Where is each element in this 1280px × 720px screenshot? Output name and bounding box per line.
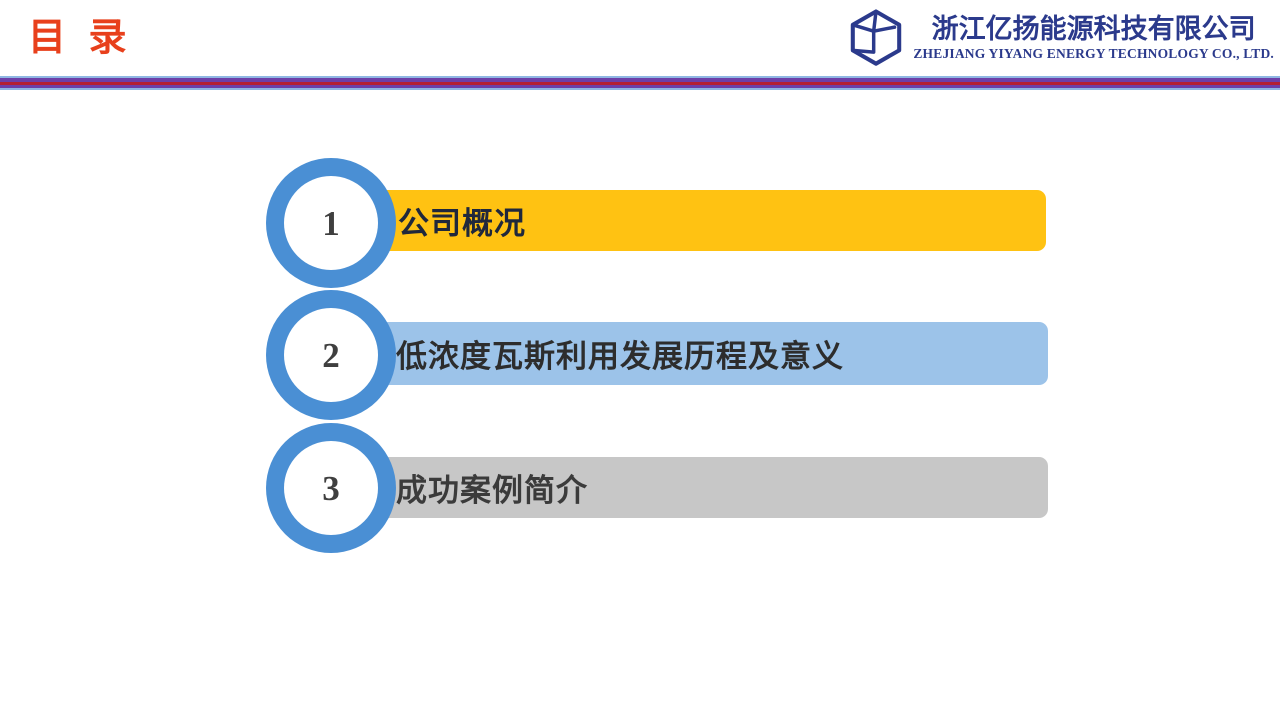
toc-number-disc-1: 1	[284, 176, 378, 270]
toc-item-2[interactable]: 低浓度瓦斯利用发展历程及意义 2	[0, 287, 1280, 423]
toc-bar-2[interactable]: 低浓度瓦斯利用发展历程及意义	[372, 322, 1048, 385]
toc-number-badge-2[interactable]: 2	[266, 290, 396, 420]
toc-number-1: 1	[322, 206, 340, 241]
toc-number-3: 3	[322, 471, 340, 506]
toc-number-disc-2: 2	[284, 308, 378, 402]
toc-number-badge-1[interactable]: 1	[266, 158, 396, 288]
toc-label-2: 低浓度瓦斯利用发展历程及意义	[372, 322, 844, 385]
toc-item-1[interactable]: 公司概况 1	[0, 154, 1280, 290]
toc-bar-3[interactable]: 成功案例简介	[372, 457, 1048, 518]
toc-label-3: 成功案例简介	[372, 457, 588, 518]
toc-number-badge-3[interactable]: 3	[266, 423, 396, 553]
toc-item-3[interactable]: 成功案例简介 3	[0, 420, 1280, 556]
toc-number-2: 2	[322, 338, 340, 373]
table-of-contents: 公司概况 1 低浓度瓦斯利用发展历程及意义 2 成功案例简介 3	[0, 0, 1280, 720]
toc-bar-1[interactable]: 公司概况	[372, 190, 1046, 251]
toc-number-disc-3: 3	[284, 441, 378, 535]
